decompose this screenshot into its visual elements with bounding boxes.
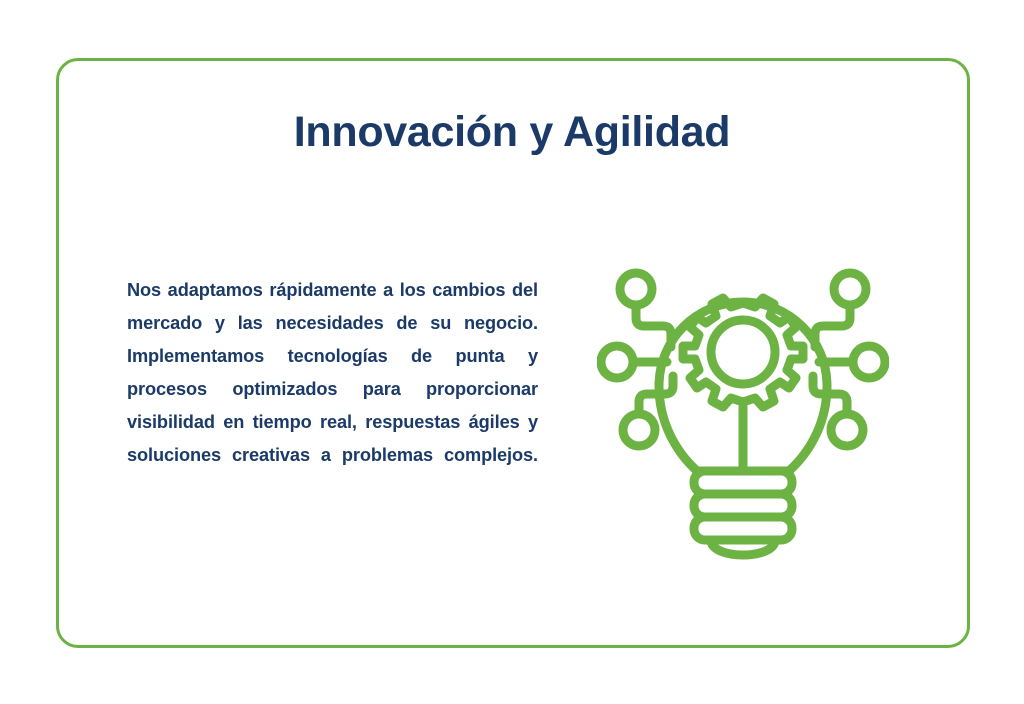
circuit-node-mid-left (601, 346, 633, 378)
page-title: Innovación y Agilidad (0, 108, 1024, 157)
bulb-base-contact (711, 540, 775, 555)
circuit-node-mid-right (853, 346, 885, 378)
circuit-node-bottom-left (623, 414, 655, 446)
gear-inner-circle (711, 320, 775, 384)
circuit-node-top-right (834, 273, 866, 305)
slide-canvas: Innovación y Agilidad Nos adaptamos rápi… (0, 0, 1024, 704)
circuit-trace-top-right (815, 305, 850, 347)
gear-outline (683, 298, 803, 407)
body-paragraph: Nos adaptamos rápidamente a los cambios … (127, 274, 538, 505)
lightbulb-gear-circuit-icon (597, 252, 889, 562)
circuit-node-top-left (620, 273, 652, 305)
circuit-trace-top-left (636, 305, 671, 347)
circuit-node-bottom-right (831, 414, 863, 446)
